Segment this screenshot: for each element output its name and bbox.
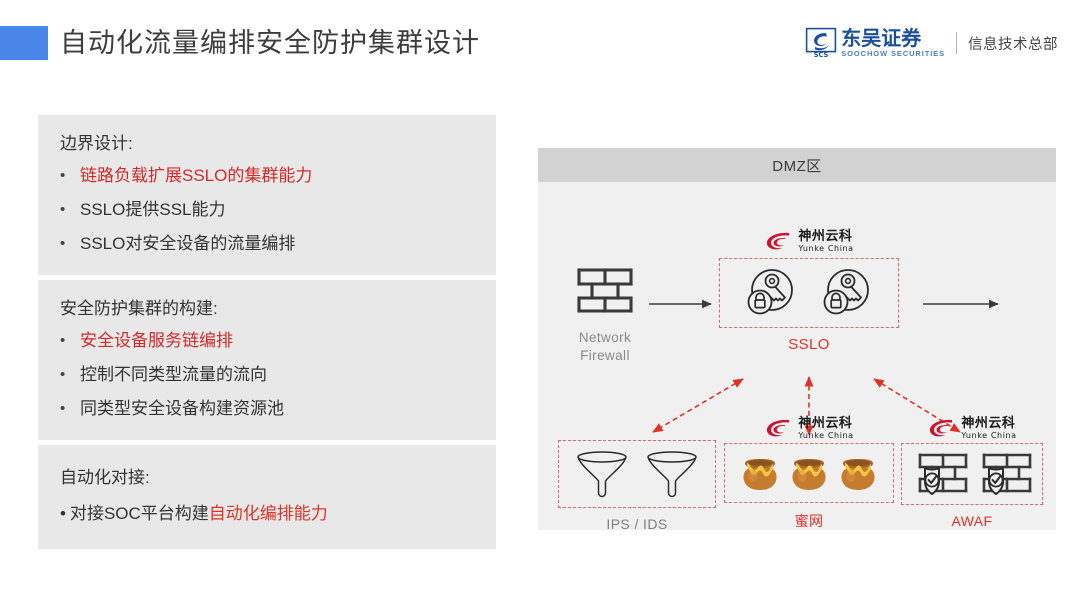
panel-heading: 边界设计: [56, 129, 478, 159]
yunke-name-en: Yunke China [798, 432, 853, 440]
yunke-name-en: Yunke China [961, 432, 1016, 440]
content-panels: 边界设计: • 链路负载扩展SSLO的集群能力 • SSLO提供SSL能力 • … [38, 115, 496, 554]
yunke-wordmark: 神州云科 Yunke China [798, 230, 853, 253]
key-lock-icon [820, 266, 874, 320]
yunke-swirl-icon [764, 418, 794, 440]
panel-security-cluster: 安全防护集群的构建: • 安全设备服务链编排 • 控制不同类型流量的流向 • 同… [38, 280, 496, 440]
bullet-label-highlight: 自动化编排能力 [209, 504, 328, 523]
bullet-dot-icon: • [60, 358, 80, 392]
yunke-name-en: Yunke China [798, 245, 853, 253]
node-awaf[interactable]: 神州云科 Yunke China [901, 417, 1043, 529]
bullet-label: SSLO提供SSL能力 [80, 193, 226, 227]
awaf-dashed-container [901, 443, 1043, 505]
bullet-label: 同类型安全设备构建资源池 [80, 392, 284, 426]
yunke-logo-sslo: 神州云科 Yunke China [719, 230, 899, 253]
bullet-dot-icon: • [60, 193, 80, 227]
dmz-zone-title: DMZ区 [538, 148, 1056, 182]
node-ips-ids[interactable]: IPS / IDS [558, 440, 716, 532]
list-item: • SSLO提供SSL能力 [56, 193, 478, 227]
honey-pot-icon [838, 452, 878, 494]
bullet-label: 安全设备服务链编排 [80, 324, 233, 358]
honeynet-dashed-container [724, 443, 894, 503]
firewall-label-line1: Network [560, 329, 650, 347]
sslo-dashed-container [719, 258, 899, 328]
honey-pot-icon [789, 452, 829, 494]
list-item: •对接SOC平台构建自动化编排能力 [56, 497, 478, 531]
node-network-firewall[interactable]: Network Firewall [560, 264, 650, 365]
sslo-icon-row [726, 266, 892, 320]
svg-text:SCS: SCS [814, 51, 829, 59]
bullet-label: 链路负载扩展SSLO的集群能力 [80, 159, 312, 193]
brand-logo: SCS 东吴证券 SOOCHOW SECURITIES 信息技术总部 [806, 24, 1058, 62]
list-item: • 链路负载扩展SSLO的集群能力 [56, 159, 478, 193]
awaf-label: AWAF [901, 513, 1043, 529]
yunke-wordmark: 神州云科 Yunke China [798, 417, 853, 440]
yunke-name-cn: 神州云科 [798, 417, 853, 430]
brand-name-en: SOOCHOW SECURITIES [841, 50, 945, 58]
brand-department: 信息技术总部 [968, 33, 1058, 54]
sslo-label: SSLO [719, 336, 899, 353]
panel-heading: 安全防护集群的构建: [56, 294, 478, 324]
node-sslo[interactable]: 神州云科 Yunke China [719, 230, 899, 353]
honeynet-icon-row [731, 452, 887, 494]
bullet-label: 控制不同类型流量的流向 [80, 358, 267, 392]
title-accent-bar [0, 26, 48, 60]
firewall-label-line2: Firewall [560, 347, 650, 365]
key-lock-icon [744, 266, 798, 320]
panel-heading: 自动化对接: [56, 459, 478, 497]
list-item: • SSLO对安全设备的流量编排 [56, 227, 478, 261]
bullet-dot-icon: • [60, 504, 66, 523]
bullet-dot-icon: • [60, 392, 80, 426]
brick-wall-icon [576, 264, 634, 316]
shield-wall-icon [911, 450, 969, 498]
brand-wordmark: 东吴证券 SOOCHOW SECURITIES [841, 28, 945, 58]
node-honeynet[interactable]: 神州云科 Yunke China [724, 417, 894, 531]
slide-root: 自动化流量编排安全防护集群设计 SCS 东吴证券 SOOCHOW SECURIT… [0, 0, 1080, 608]
yunke-name-cn: 神州云科 [961, 417, 1016, 430]
yunke-wordmark: 神州云科 Yunke China [961, 417, 1016, 440]
brand-divider [956, 32, 957, 54]
funnel-icon [575, 449, 629, 499]
bullet-dot-icon: • [60, 159, 80, 193]
bullet-label: SSLO对安全设备的流量编排 [80, 227, 295, 261]
bullet-dot-icon: • [60, 227, 80, 261]
soochow-swirl-icon: SCS [806, 28, 836, 58]
yunke-logo-honeynet: 神州云科 Yunke China [724, 417, 894, 440]
shield-wall-icon [975, 450, 1033, 498]
firewall-icon-row [560, 264, 650, 316]
yunke-swirl-icon [927, 418, 957, 440]
list-item: • 同类型安全设备构建资源池 [56, 392, 478, 426]
panel-boundary-design: 边界设计: • 链路负载扩展SSLO的集群能力 • SSLO提供SSL能力 • … [38, 115, 496, 275]
honeynet-label: 蜜网 [724, 511, 894, 531]
page-title: 自动化流量编排安全防护集群设计 [60, 24, 480, 62]
ips-ids-label: IPS / IDS [558, 516, 716, 532]
yunke-name-cn: 神州云科 [798, 230, 853, 243]
yunke-swirl-icon [764, 231, 794, 253]
brand-name-cn: 东吴证券 [841, 28, 945, 48]
diagram-canvas: Network Firewall 神州云科 Yunke China [538, 182, 1056, 530]
panel-automation: 自动化对接: •对接SOC平台构建自动化编排能力 [38, 445, 496, 549]
bullet-label-plain: 对接SOC平台构建 [70, 504, 209, 523]
bullet-dot-icon: • [60, 324, 80, 358]
list-item: • 安全设备服务链编排 [56, 324, 478, 358]
yunke-logo-awaf: 神州云科 Yunke China [901, 417, 1043, 440]
soochow-logo-mark: SCS 东吴证券 SOOCHOW SECURITIES [806, 28, 945, 58]
awaf-icon-row [906, 450, 1038, 498]
list-item: • 控制不同类型流量的流向 [56, 358, 478, 392]
architecture-diagram: DMZ区 [538, 148, 1056, 530]
honey-pot-icon [740, 452, 780, 494]
ips-dashed-container [558, 440, 716, 508]
ips-icon-row [565, 449, 709, 499]
funnel-icon [645, 449, 699, 499]
